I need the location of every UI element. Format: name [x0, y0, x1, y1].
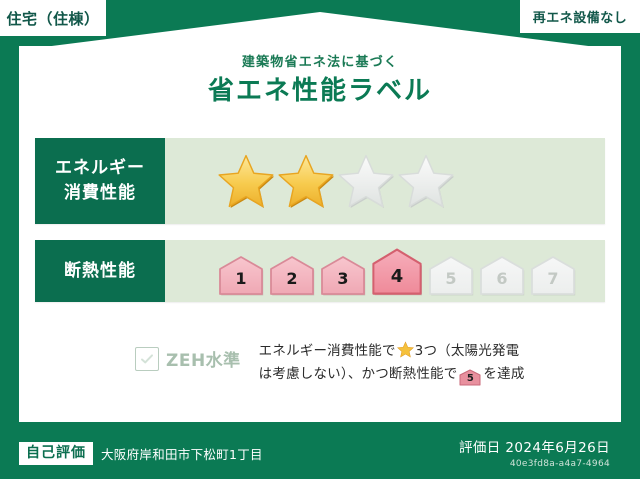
zeh-desc-2a: は考慮しない）、かつ断熱性能で: [259, 366, 458, 382]
star-icon-filled: [217, 152, 275, 210]
evaluation-date-value: 2024年6月26日: [505, 440, 610, 456]
zeh-desc-2b: を達成: [483, 366, 524, 382]
insulation-level-number: 2: [286, 269, 297, 296]
insulation-level-1: 1: [217, 254, 265, 296]
zeh-desc-1a: エネルギー消費性能で: [259, 343, 396, 359]
self-evaluation-badge: 自己評価: [19, 442, 93, 465]
zeh-description: エネルギー消費性能で3つ（太陽光発電 は考慮しない）、かつ断熱性能で5を達成: [259, 340, 525, 386]
zeh-standard-section: ZEH水準 エネルギー消費性能で3つ（太陽光発電 は考慮しない）、かつ断熱性能で…: [135, 340, 525, 386]
energy-label-line1: エネルギー: [55, 156, 145, 181]
building-type-tab: 住宅（住棟）: [0, 0, 106, 36]
insulation-level-number: 3: [337, 269, 348, 296]
energy-label-line2: 消費性能: [64, 181, 136, 206]
zeh-desc-1b: 3つ（太陽光発電: [415, 343, 520, 359]
inline-house-icon: 5: [459, 369, 481, 386]
insulation-level-7: 7: [529, 254, 577, 296]
insulation-level-number: 1: [235, 269, 246, 296]
star-rating: [217, 152, 455, 210]
zeh-description-line1: エネルギー消費性能で3つ（太陽光発電: [259, 340, 525, 363]
star-icon-empty: [397, 152, 455, 210]
energy-performance-row: エネルギー 消費性能: [35, 138, 605, 224]
insulation-level-number: 7: [547, 269, 558, 296]
energy-performance-value: [165, 138, 605, 224]
insulation-performance-row: 断熱性能 1234567: [35, 240, 605, 302]
renewable-energy-tab: 再エネ設備なし: [520, 0, 640, 33]
frame-right: [621, 0, 640, 479]
evaluation-date: 評価日 2024年6月26日: [459, 436, 610, 456]
footer-left: 自己評価 大阪府岸和田市下松町1丁目: [19, 442, 263, 465]
insulation-label-line1: 断熱性能: [64, 259, 136, 284]
insulation-level-number: 6: [496, 269, 507, 296]
star-icon-empty: [337, 152, 395, 210]
zeh-badge: ZEH水準: [135, 340, 241, 371]
insulation-level-number: 5: [445, 269, 456, 296]
insulation-level-number: 4: [391, 266, 404, 296]
insulation-performance-label: 断熱性能: [35, 240, 165, 302]
energy-performance-label: エネルギー 消費性能: [35, 138, 165, 224]
insulation-level-5: 5: [427, 254, 475, 296]
frame-left: [0, 0, 19, 479]
evaluation-date-label: 評価日: [459, 440, 501, 456]
zeh-badge-label: ZEH水準: [166, 346, 241, 371]
star-icon-filled: [277, 152, 335, 210]
insulation-performance-value: 1234567: [165, 240, 605, 302]
insulation-level-scale: 1234567: [217, 246, 577, 296]
footer-right: 評価日 2024年6月26日 40e3fd8a-a4a7-4964: [459, 436, 610, 469]
insulation-level-2: 2: [268, 254, 316, 296]
zeh-checkbox-icon: [135, 347, 159, 371]
insulation-level-4: 4: [370, 246, 424, 296]
inline-star-icon: [397, 341, 414, 358]
insulation-level-6: 6: [478, 254, 526, 296]
evaluation-id: 40e3fd8a-a4a7-4964: [459, 459, 610, 469]
insulation-level-3: 3: [319, 254, 367, 296]
zeh-description-line2: は考慮しない）、かつ断熱性能で5を達成: [259, 363, 525, 386]
energy-performance-label: 住宅（住棟） 再エネ設備なし 建築物省エネ法に基づく 省エネ性能ラベル エネルギ…: [0, 0, 640, 479]
property-address: 大阪府岸和田市下松町1丁目: [101, 444, 263, 463]
inline-house-level: 5: [459, 369, 481, 389]
